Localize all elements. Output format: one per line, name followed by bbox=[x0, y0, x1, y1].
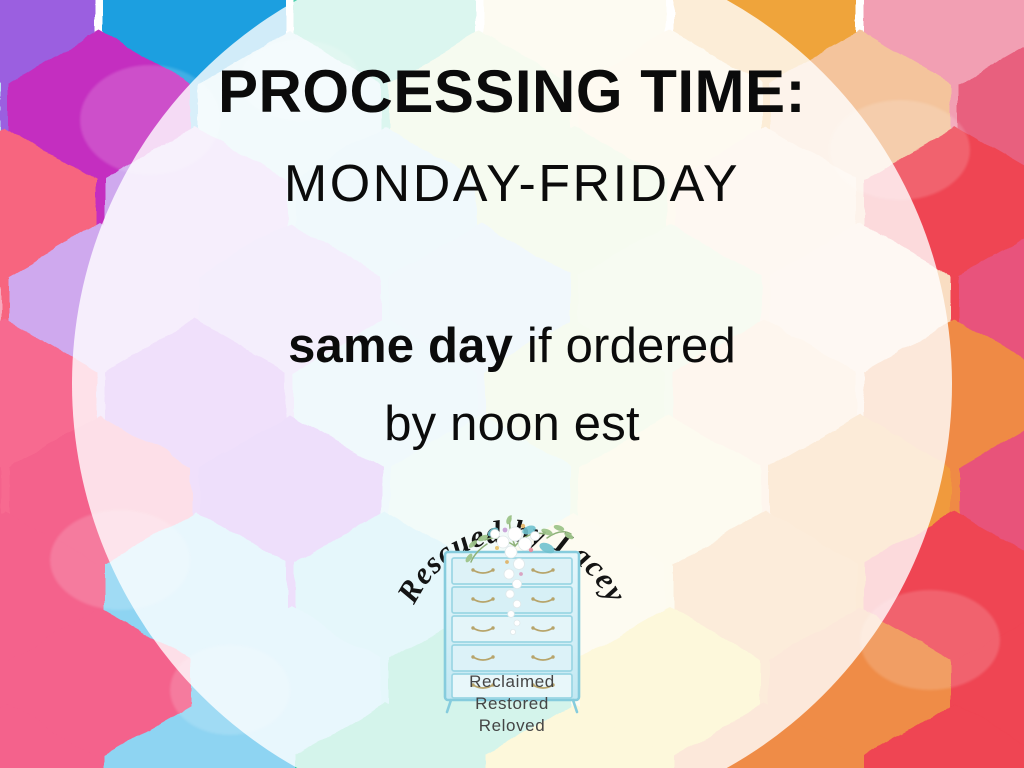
tagline-line-2: Restored bbox=[397, 693, 627, 715]
tagline-line-3: Reloved bbox=[397, 715, 627, 737]
brand-logo: Rescued by Lacey bbox=[397, 486, 627, 736]
tagline-line-1: Reclaimed bbox=[397, 671, 627, 693]
poster-canvas: PROCESSING TIME: MONDAY-FRIDAY same day … bbox=[0, 0, 1024, 768]
